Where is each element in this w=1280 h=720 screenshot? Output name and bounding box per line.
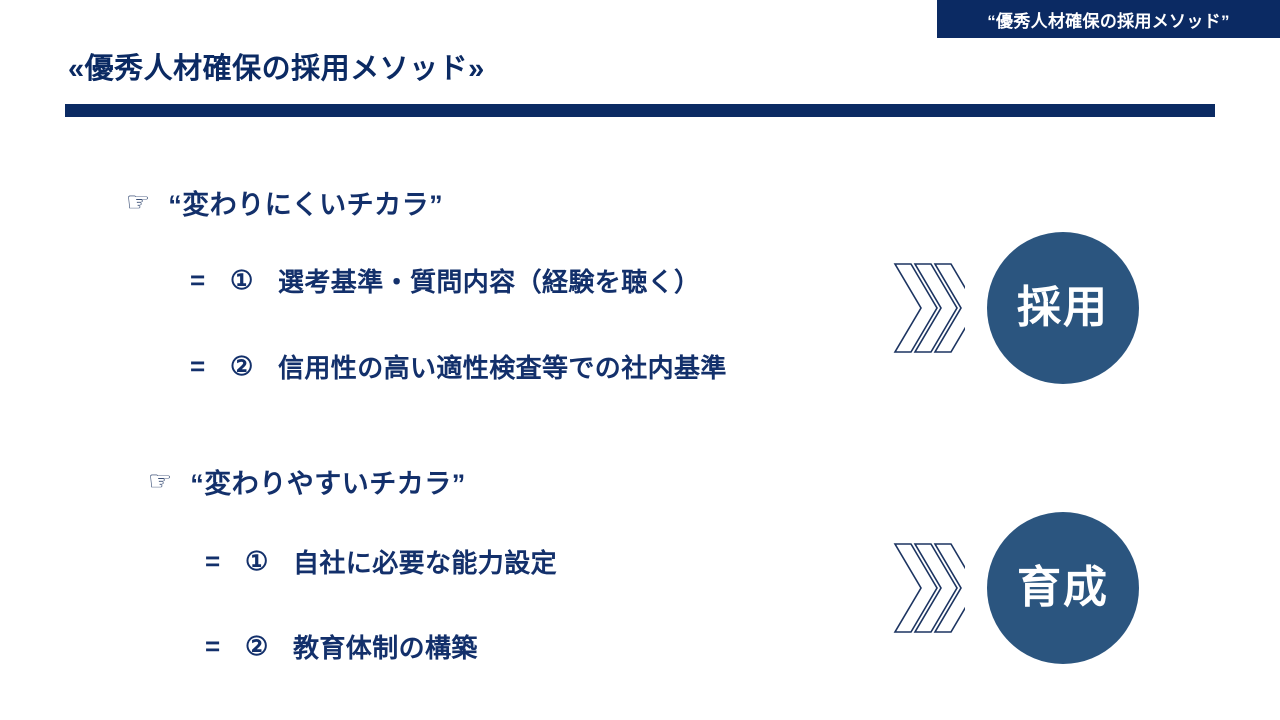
flow-group-1: 採用 bbox=[893, 232, 1139, 384]
pointing-hand-icon: ☞ bbox=[148, 468, 172, 495]
stage-circle-1: 採用 bbox=[987, 232, 1139, 384]
stage-circle-2: 育成 bbox=[987, 512, 1139, 664]
list-item: = ① 選考基準・質問内容（経験を聴く） bbox=[190, 262, 700, 299]
list-item: = ① 自社に必要な能力設定 bbox=[205, 543, 557, 580]
header-badge: “優秀人材確保の採用メソッド” bbox=[937, 0, 1280, 38]
equals-sign: = bbox=[190, 265, 230, 296]
group-heading-label-1: “変わりにくいチカラ” bbox=[168, 183, 443, 222]
item-number: ② bbox=[230, 351, 278, 382]
item-label: 選考基準・質問内容（経験を聴く） bbox=[278, 262, 700, 299]
group-heading-2: ☞ “変わりやすいチカラ” bbox=[148, 462, 466, 501]
flow-group-2: 育成 bbox=[893, 512, 1139, 664]
equals-sign: = bbox=[205, 631, 245, 662]
item-number: ① bbox=[245, 546, 293, 577]
triple-chevron-right-icon bbox=[893, 262, 965, 354]
header-badge-label: “優秀人材確保の採用メソッド” bbox=[987, 7, 1230, 32]
list-item: = ② 教育体制の構築 bbox=[205, 628, 478, 665]
title-divider bbox=[65, 104, 1215, 117]
equals-sign: = bbox=[190, 351, 230, 382]
slide-canvas: “優秀人材確保の採用メソッド” «優秀人材確保の採用メソッド» ☞ “変わりにく… bbox=[0, 0, 1280, 720]
triple-chevron-right-icon bbox=[893, 542, 965, 634]
pointing-hand-icon: ☞ bbox=[126, 189, 150, 216]
group-heading-label-2: “変わりやすいチカラ” bbox=[190, 462, 466, 501]
equals-sign: = bbox=[205, 546, 245, 577]
stage-circle-label-1: 採用 bbox=[1017, 286, 1109, 330]
group-heading-1: ☞ “変わりにくいチカラ” bbox=[126, 183, 443, 222]
list-item: = ② 信用性の高い適性検査等での社内基準 bbox=[190, 348, 727, 385]
item-number: ① bbox=[230, 265, 278, 296]
item-number: ② bbox=[245, 631, 293, 662]
item-label: 教育体制の構築 bbox=[293, 628, 478, 665]
stage-circle-label-2: 育成 bbox=[1017, 566, 1109, 610]
item-label: 自社に必要な能力設定 bbox=[293, 543, 557, 580]
page-title: «優秀人材確保の採用メソッド» bbox=[68, 45, 485, 87]
item-label: 信用性の高い適性検査等での社内基準 bbox=[278, 348, 727, 385]
